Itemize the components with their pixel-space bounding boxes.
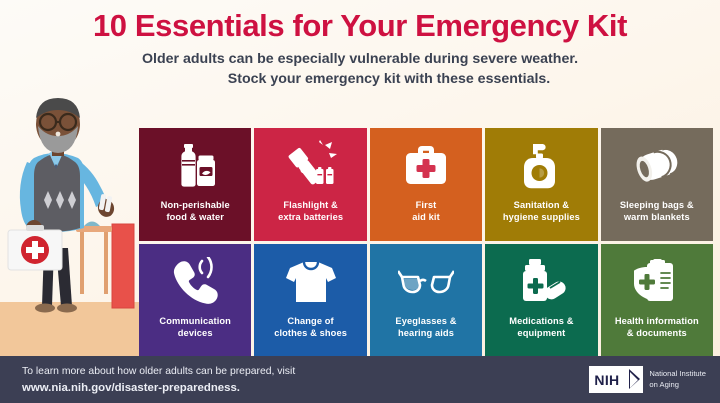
water-bottle-and-canned-food-icon: [169, 137, 221, 195]
tile-medications-equipment[interactable]: Medications &equipment: [485, 244, 597, 357]
soap-dispenser-icon: [519, 137, 563, 195]
tile-label: Sanitation &hygiene supplies: [500, 199, 583, 224]
nih-chevron-inner-icon: [630, 372, 638, 388]
tile-change-of-clothes[interactable]: Change ofclothes & shoes: [254, 244, 366, 357]
nih-logo: NIH National Institute on Aging: [589, 366, 706, 393]
phone-handset-icon: [169, 253, 221, 311]
clipboard-shield-icon: [631, 253, 683, 311]
tile-flashlight-batteries[interactable]: Flashlight &extra batteries: [254, 128, 366, 241]
first-aid-kit-icon: [401, 137, 451, 195]
nih-name-line-1: National Institute: [649, 369, 706, 380]
page-title: 10 Essentials for Your Emergency Kit: [0, 0, 720, 43]
tile-health-information-documents[interactable]: Health information& documents: [601, 244, 713, 357]
tile-non-perishable-food-water[interactable]: Non-perishablefood & water: [139, 128, 251, 241]
tile-label: Sleeping bags &warm blankets: [617, 199, 697, 224]
footer-url[interactable]: www.nia.nih.gov/disaster-preparedness.: [22, 380, 295, 397]
nih-institute-name: National Institute on Aging: [649, 369, 706, 390]
rolled-sleeping-bag-icon: [628, 137, 686, 195]
tile-label: Medications &equipment: [506, 315, 576, 340]
tile-label: Non-perishablefood & water: [158, 199, 233, 224]
medicine-bottle-and-pills-icon: [514, 253, 568, 311]
tile-label: Health information& documents: [612, 315, 702, 340]
subtitle-line-2: Stock your emergency kit with these esse…: [18, 69, 702, 90]
essentials-grid: Non-perishablefood & water: [139, 128, 713, 356]
footer: To learn more about how older adults can…: [0, 356, 720, 403]
nih-logo-text: NIH: [589, 372, 619, 388]
tile-first-aid-kit[interactable]: Firstaid kit: [370, 128, 482, 241]
tile-label: Change ofclothes & shoes: [271, 315, 350, 340]
tile-sanitation-hygiene[interactable]: Sanitation &hygiene supplies: [485, 128, 597, 241]
subtitle-line-1: Older adults can be especially vulnerabl…: [142, 51, 578, 67]
tile-label: Eyeglasses &hearing aids: [392, 315, 459, 340]
infographic-poster: 10 Essentials for Your Emergency Kit Old…: [0, 0, 720, 403]
footer-line-1: To learn more about how older adults can…: [22, 364, 295, 379]
nih-logo-mark: NIH: [589, 366, 643, 393]
tile-label: Flashlight &extra batteries: [275, 199, 346, 224]
header: 10 Essentials for Your Emergency Kit Old…: [0, 0, 720, 90]
nih-name-line-2: on Aging: [649, 380, 706, 391]
subtitle: Older adults can be especially vulnerabl…: [0, 43, 720, 90]
flashlight-and-batteries-icon: [284, 137, 338, 195]
tile-communication-devices[interactable]: Communicationdevices: [139, 244, 251, 357]
t-shirt-icon: [284, 253, 338, 311]
tile-eyeglasses-hearing-aids[interactable]: Eyeglasses &hearing aids: [370, 244, 482, 357]
tile-sleeping-bags-blankets[interactable]: Sleeping bags &warm blankets: [601, 128, 713, 241]
older-adult-illustration: [0, 96, 140, 356]
tile-label: Firstaid kit: [409, 199, 443, 224]
tile-label: Communicationdevices: [156, 315, 234, 340]
eyeglasses-icon: [398, 253, 454, 311]
footer-text: To learn more about how older adults can…: [22, 364, 295, 397]
